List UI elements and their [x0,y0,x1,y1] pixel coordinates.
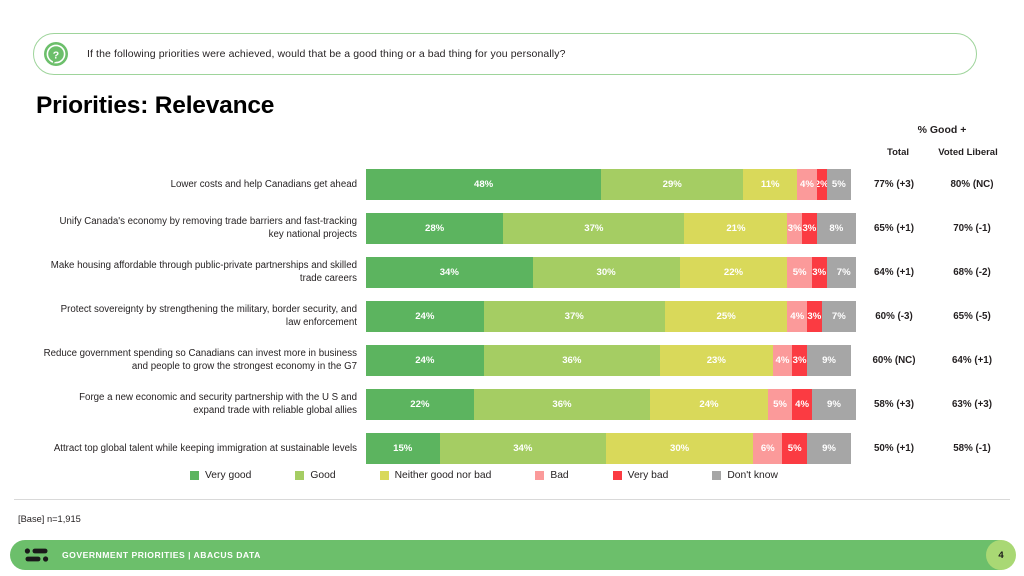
legend-swatch-icon [535,471,544,480]
row-label: Protect sovereignty by strengthening the… [0,303,366,329]
question-mark-circle-icon: ? [43,41,69,67]
bar-segment: 15% [366,433,440,464]
bar-segment: 9% [812,389,856,420]
legend-label: Don't know [727,470,778,481]
bar-segment: 8% [817,213,856,244]
bar-segment: 7% [827,257,856,288]
stacked-bar: 24%37%25%4%3%7% [366,301,856,332]
bar-segment: 5% [787,257,812,288]
footer-bar: GOVERNMENT PRIORITIES | ABACUS DATA [10,540,1014,570]
bar-segment: 23% [660,345,773,376]
stat-voted-liberal: 70% (-1) [922,223,1022,234]
legend-label: Very good [205,470,251,481]
stat-total: 60% (NC) [866,355,922,366]
bar-segment: 24% [366,345,484,376]
bar-segment: 29% [601,169,743,200]
legend-item[interactable]: Neither good nor bad [380,470,492,481]
bar-segment: 34% [440,433,607,464]
bar-segment: 36% [474,389,650,420]
stat-total: 58% (+3) [866,399,922,410]
stacked-bar: 24%36%23%4%3%9% [366,345,856,376]
stat-voted-liberal: 64% (+1) [922,355,1022,366]
legend-label: Neither good nor bad [395,470,492,481]
legend-item[interactable]: Very bad [613,470,669,481]
chart-row: Protect sovereignty by strengthening the… [0,294,1024,338]
bar-segment: 30% [533,257,680,288]
stat-voted-liberal: 65% (-5) [922,311,1022,322]
bar-segment: 24% [650,389,768,420]
question-text: If the following priorities were achieve… [87,48,566,60]
bar-segment: 6% [753,433,782,464]
row-label: Lower costs and help Canadians get ahead [0,178,366,191]
bar-segment: 4% [792,389,812,420]
legend-label: Bad [550,470,568,481]
column-header-voted-liberal: Voted Liberal [912,147,1024,158]
chart-row: Reduce government spending so Canadians … [0,338,1024,382]
bar-segment: 37% [484,301,665,332]
stat-voted-liberal: 63% (+3) [922,399,1022,410]
legend-label: Very bad [628,470,669,481]
stat-total: 60% (-3) [866,311,922,322]
bar-segment: 22% [680,257,788,288]
svg-text:?: ? [53,49,59,61]
row-label: Make housing affordable through public-p… [0,259,366,285]
bar-segment: 4% [773,345,793,376]
legend-item[interactable]: Good [295,470,335,481]
bar-segment: 5% [827,169,852,200]
chart-row: Forge a new economic and security partne… [0,382,1024,426]
chart-legend: Very goodGoodNeither good nor badBadVery… [0,470,1024,481]
bar-segment: 24% [366,301,484,332]
stat-voted-liberal: 58% (-1) [922,443,1022,454]
bar-segment: 30% [606,433,753,464]
bar-segment: 4% [787,301,807,332]
base-note: [Base] n=1,915 [18,514,81,524]
stat-voted-liberal: 68% (-2) [922,267,1022,278]
stat-total: 77% (+3) [866,179,922,190]
bar-segment: 3% [802,213,817,244]
bar-segment: 25% [665,301,788,332]
stacked-bar: 34%30%22%5%3%7% [366,257,856,288]
chart-row: Lower costs and help Canadians get ahead… [0,162,1024,206]
bar-segment: 9% [807,433,851,464]
bar-segment: 11% [743,169,797,200]
bar-segment: 37% [503,213,684,244]
bar-segment: 5% [768,389,793,420]
stacked-bar: 48%29%11%4%2%5% [366,169,856,200]
stacked-bar-chart: Lower costs and help Canadians get ahead… [0,162,1024,470]
chart-row: Make housing affordable through public-p… [0,250,1024,294]
bar-segment: 3% [807,301,822,332]
legend-item[interactable]: Don't know [712,470,778,481]
bar-segment: 22% [366,389,474,420]
question-banner: ? If the following priorities were achie… [33,33,977,75]
abacus-logo-icon [24,547,50,563]
row-label: Forge a new economic and security partne… [0,391,366,417]
stacked-bar: 22%36%24%5%4%9% [366,389,856,420]
page-number: 4 [986,540,1016,570]
bar-segment: 2% [817,169,827,200]
stacked-bar: 28%37%21%3%3%8% [366,213,856,244]
column-header-good-plus: % Good + [860,124,1024,136]
legend-item[interactable]: Very good [190,470,251,481]
legend-label: Good [310,470,335,481]
page-title: Priorities: Relevance [36,92,274,120]
bar-segment: 3% [792,345,807,376]
stacked-bar: 15%34%30%6%5%9% [366,433,856,464]
bar-segment: 36% [484,345,660,376]
bar-segment: 7% [822,301,856,332]
legend-swatch-icon [380,471,389,480]
row-label: Reduce government spending so Canadians … [0,347,366,373]
footer-text: GOVERNMENT PRIORITIES | ABACUS DATA [62,550,261,560]
chart-row: Unify Canada's economy by removing trade… [0,206,1024,250]
footer-divider [14,499,1010,500]
bar-segment: 48% [366,169,601,200]
stat-total: 65% (+1) [866,223,922,234]
bar-segment: 3% [787,213,802,244]
slide: ? If the following priorities were achie… [0,0,1024,576]
bar-segment: 34% [366,257,533,288]
bar-segment: 28% [366,213,503,244]
bar-segment: 5% [782,433,807,464]
bar-segment: 4% [797,169,817,200]
bar-segment: 3% [812,257,827,288]
legend-swatch-icon [712,471,721,480]
legend-swatch-icon [190,471,199,480]
legend-swatch-icon [295,471,304,480]
stat-voted-liberal: 80% (NC) [922,179,1022,190]
stat-total: 50% (+1) [866,443,922,454]
legend-item[interactable]: Bad [535,470,568,481]
bar-segment: 9% [807,345,851,376]
stat-total: 64% (+1) [866,267,922,278]
chart-row: Attract top global talent while keeping … [0,426,1024,470]
row-label: Attract top global talent while keeping … [0,442,366,455]
bar-segment: 21% [684,213,787,244]
legend-swatch-icon [613,471,622,480]
row-label: Unify Canada's economy by removing trade… [0,215,366,241]
